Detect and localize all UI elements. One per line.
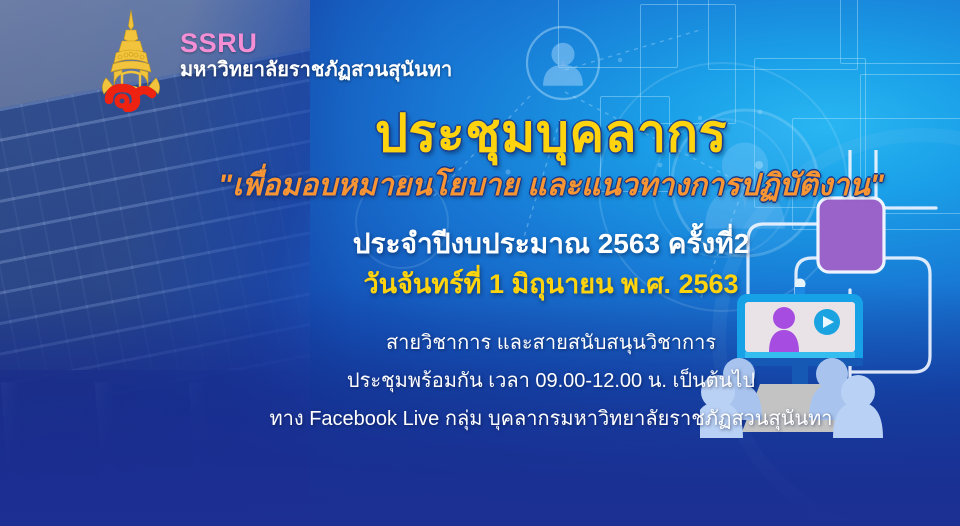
brand-lockup: SSRU มหาวิทยาลัยราชภัฏสวนสุนันทา [92, 8, 452, 112]
detail-line-audience: สายวิชาการ และสายสนับสนุนวิชาการ [150, 332, 952, 354]
fiscal-year-line: ประจำปีงบประมาณ 2563 ครั้งที่2 [150, 229, 952, 260]
event-date-line: วันจันทร์ที่ 1 มิถุนายน พ.ศ. 2563 [150, 270, 952, 300]
brand-name: มหาวิทยาลัยราชภัฏสวนสุนันทา [180, 59, 452, 83]
brand-abbreviation: SSRU [180, 30, 452, 57]
ssru-crown-logo-icon [92, 8, 170, 112]
page-title: ประชุมบุคลากร [150, 108, 952, 161]
detail-line-channel: ทาง Facebook Live กลุ่ม บุคลากรมหาวิทยาล… [150, 408, 952, 430]
page-subtitle: "เพื่อมอบหมายนโยบาย และแนวทางการปฏิบัติง… [150, 169, 952, 203]
detail-lines: สายวิชาการ และสายสนับสนุนวิชาการ ประชุมพ… [150, 332, 952, 430]
event-poster: SSRU มหาวิทยาลัยราชภัฏสวนสุนันทา ประชุมบ… [0, 0, 960, 526]
detail-line-time: ประชุมพร้อมกัน เวลา 09.00-12.00 น. เป็นต… [150, 370, 952, 392]
poster-content: ประชุมบุคลากร "เพื่อมอบหมายนโยบาย และแนว… [150, 108, 952, 430]
